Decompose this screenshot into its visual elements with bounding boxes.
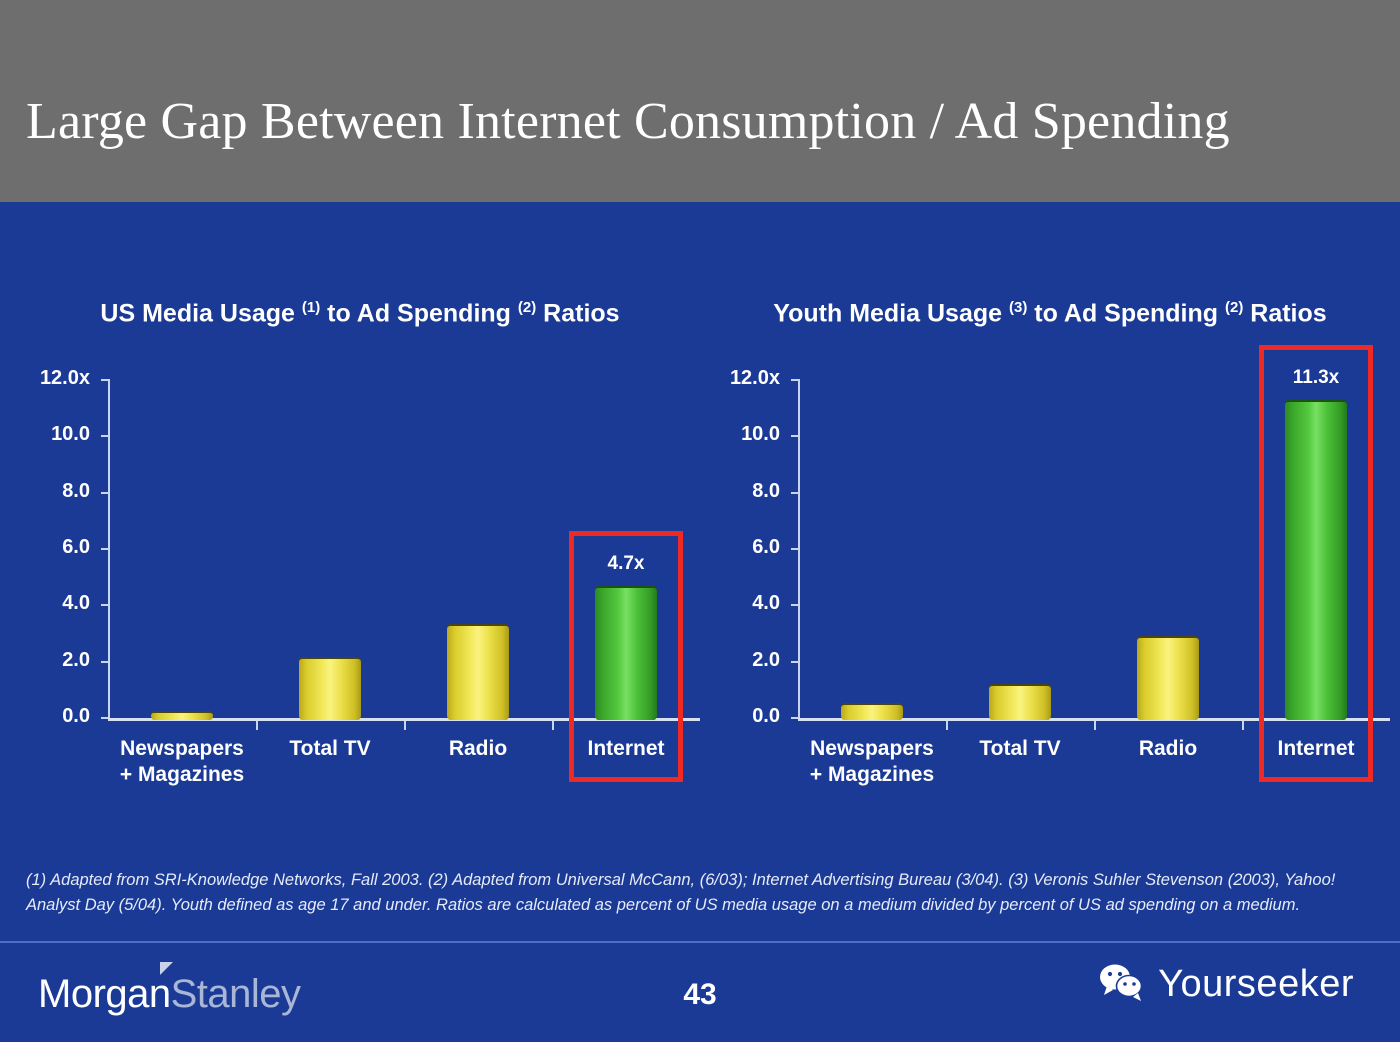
x-axis-tick [552,721,554,730]
bar [151,711,213,720]
y-axis-tick [101,379,110,381]
plot-area-right: 0.02.04.06.08.010.012.0xNewspapers+ Maga… [700,218,1400,838]
y-axis-label: 6.0 [702,536,780,559]
category-label-line: Internet [1226,736,1400,762]
yourseeker-watermark: Yourseeker [1098,962,1354,1007]
category-label-line: + Magazines [782,762,962,788]
y-axis-label: 8.0 [702,480,780,503]
y-axis-label: 0.0 [12,705,90,728]
bar [1137,636,1199,720]
y-axis-tick [101,435,110,437]
y-axis-tick [101,492,110,494]
y-axis-tick [791,435,800,437]
y-axis-label: 6.0 [12,536,90,559]
y-axis-tick [791,548,800,550]
y-axis-label: 0.0 [702,705,780,728]
x-axis-tick [1242,721,1244,730]
wechat-icon [1098,962,1146,1007]
y-axis-label: 4.0 [702,592,780,615]
bar [1285,400,1347,720]
bar-value-label: 11.3x [1256,367,1376,389]
y-axis-tick [101,661,110,663]
plot-area-left: 0.02.04.06.08.010.012.0xNewspapers+ Maga… [10,218,710,838]
morgan-stanley-triangle-icon [160,962,173,975]
x-axis-tick [1094,721,1096,730]
y-axis-tick [101,604,110,606]
bar [447,624,509,720]
slide: Large Gap Between Internet Consumption /… [0,0,1400,1042]
y-axis-tick [791,661,800,663]
bar [299,657,361,720]
y-axis-label: 8.0 [12,480,90,503]
y-axis-label: 12.0x [12,367,90,390]
x-axis-tick [404,721,406,730]
y-axis-tick [791,604,800,606]
y-axis-tick [101,548,110,550]
chart-us-media-usage: US Media Usage (1) to Ad Spending (2) Ra… [10,218,710,838]
y-axis-label: 10.0 [702,423,780,446]
y-axis-label: 10.0 [12,423,90,446]
y-axis-label: 12.0x [702,367,780,390]
bar [595,586,657,720]
page-title: Large Gap Between Internet Consumption /… [26,92,1230,152]
x-axis-category-label: Internet [1226,736,1400,762]
category-label-line: + Magazines [92,762,272,788]
bar [989,684,1051,720]
y-axis-tick [791,492,800,494]
y-axis-tick [791,379,800,381]
y-axis-label: 2.0 [12,649,90,672]
bar-value-label: 4.7x [566,553,686,575]
x-axis-category-label: Internet [536,736,716,762]
footnote: (1) Adapted from SRI-Knowledge Networks,… [26,868,1374,918]
x-axis-tick [946,721,948,730]
chart-youth-media-usage: Youth Media Usage (3) to Ad Spending (2)… [700,218,1400,838]
y-axis-line [798,380,800,720]
y-axis-label: 2.0 [702,649,780,672]
bar [841,703,903,720]
category-label-line: Internet [536,736,716,762]
footer-divider [0,941,1400,943]
y-axis-label: 4.0 [12,592,90,615]
yourseeker-label: Yourseeker [1158,963,1354,1006]
y-axis-line [108,380,110,720]
x-axis-tick [256,721,258,730]
